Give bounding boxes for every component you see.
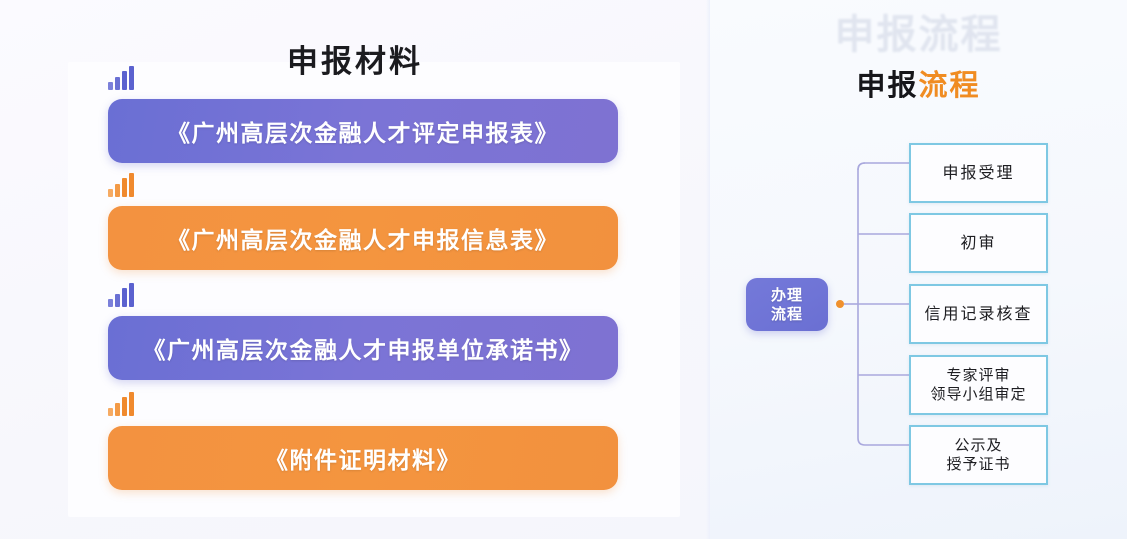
flow-step-3-label: 信用记录核查 — [924, 304, 1032, 324]
page-title-part-orange: 流程 — [919, 68, 981, 102]
flow-step-5-label-line1: 公示及 — [946, 436, 1010, 455]
page-title-application-process: 申报流程 — [710, 62, 1127, 104]
flow-root-line2: 流程 — [771, 305, 803, 323]
material-item-1-label: 《广州高层次金融人才评定申报表》 — [167, 114, 559, 148]
flow-step-5-label-line2: 授予证书 — [946, 455, 1010, 474]
flow-step-3[interactable]: 信用记录核查 — [909, 284, 1048, 344]
material-item-2[interactable]: 《广州高层次金融人才申报信息表》 — [108, 206, 618, 270]
flow-step-1-label: 申报受理 — [942, 163, 1014, 183]
material-item-4[interactable]: 《附件证明材料》 — [108, 426, 618, 490]
flow-step-4[interactable]: 专家评审 领导小组审定 — [909, 355, 1048, 415]
bar-chart-icon — [108, 283, 138, 307]
bar-chart-icon — [108, 173, 138, 197]
flow-root-line1: 办理 — [771, 286, 803, 304]
page-title-part-black: 申报 — [856, 68, 918, 102]
material-item-3[interactable]: 《广州高层次金融人才申报单位承诺书》 — [108, 316, 618, 380]
flow-root-node[interactable]: 办理 流程 — [746, 278, 828, 331]
flow-root-connector-dot — [836, 300, 844, 308]
flow-step-4-label-line1: 专家评审 — [930, 366, 1026, 385]
flow-step-1[interactable]: 申报受理 — [909, 143, 1048, 203]
page-canvas: 申报材料 《广州高层次金融人才评定申报表》 《广州高层次金融人才申报信息表》 《… — [0, 0, 1127, 539]
material-item-1[interactable]: 《广州高层次金融人才评定申报表》 — [108, 99, 618, 163]
bar-chart-icon — [108, 392, 138, 416]
flow-step-2[interactable]: 初审 — [909, 213, 1048, 273]
watermark-text: 申报流程 — [710, 2, 1127, 60]
material-item-2-label: 《广州高层次金融人才申报信息表》 — [167, 221, 559, 255]
flow-step-4-label-line2: 领导小组审定 — [930, 385, 1026, 404]
application-materials-panel: 申报材料 《广州高层次金融人才评定申报表》 《广州高层次金融人才申报信息表》 《… — [0, 0, 710, 539]
application-process-panel: 申报流程 申报流程 办理 流程 — [710, 0, 1127, 539]
material-item-4-label: 《附件证明材料》 — [265, 441, 461, 475]
flow-step-5[interactable]: 公示及 授予证书 — [909, 425, 1048, 485]
material-item-3-label: 《广州高层次金融人才申报单位承诺书》 — [143, 331, 584, 365]
bar-chart-icon — [108, 66, 138, 90]
flow-step-2-label: 初审 — [960, 233, 996, 253]
page-title-application-materials: 申报材料 — [0, 36, 710, 81]
